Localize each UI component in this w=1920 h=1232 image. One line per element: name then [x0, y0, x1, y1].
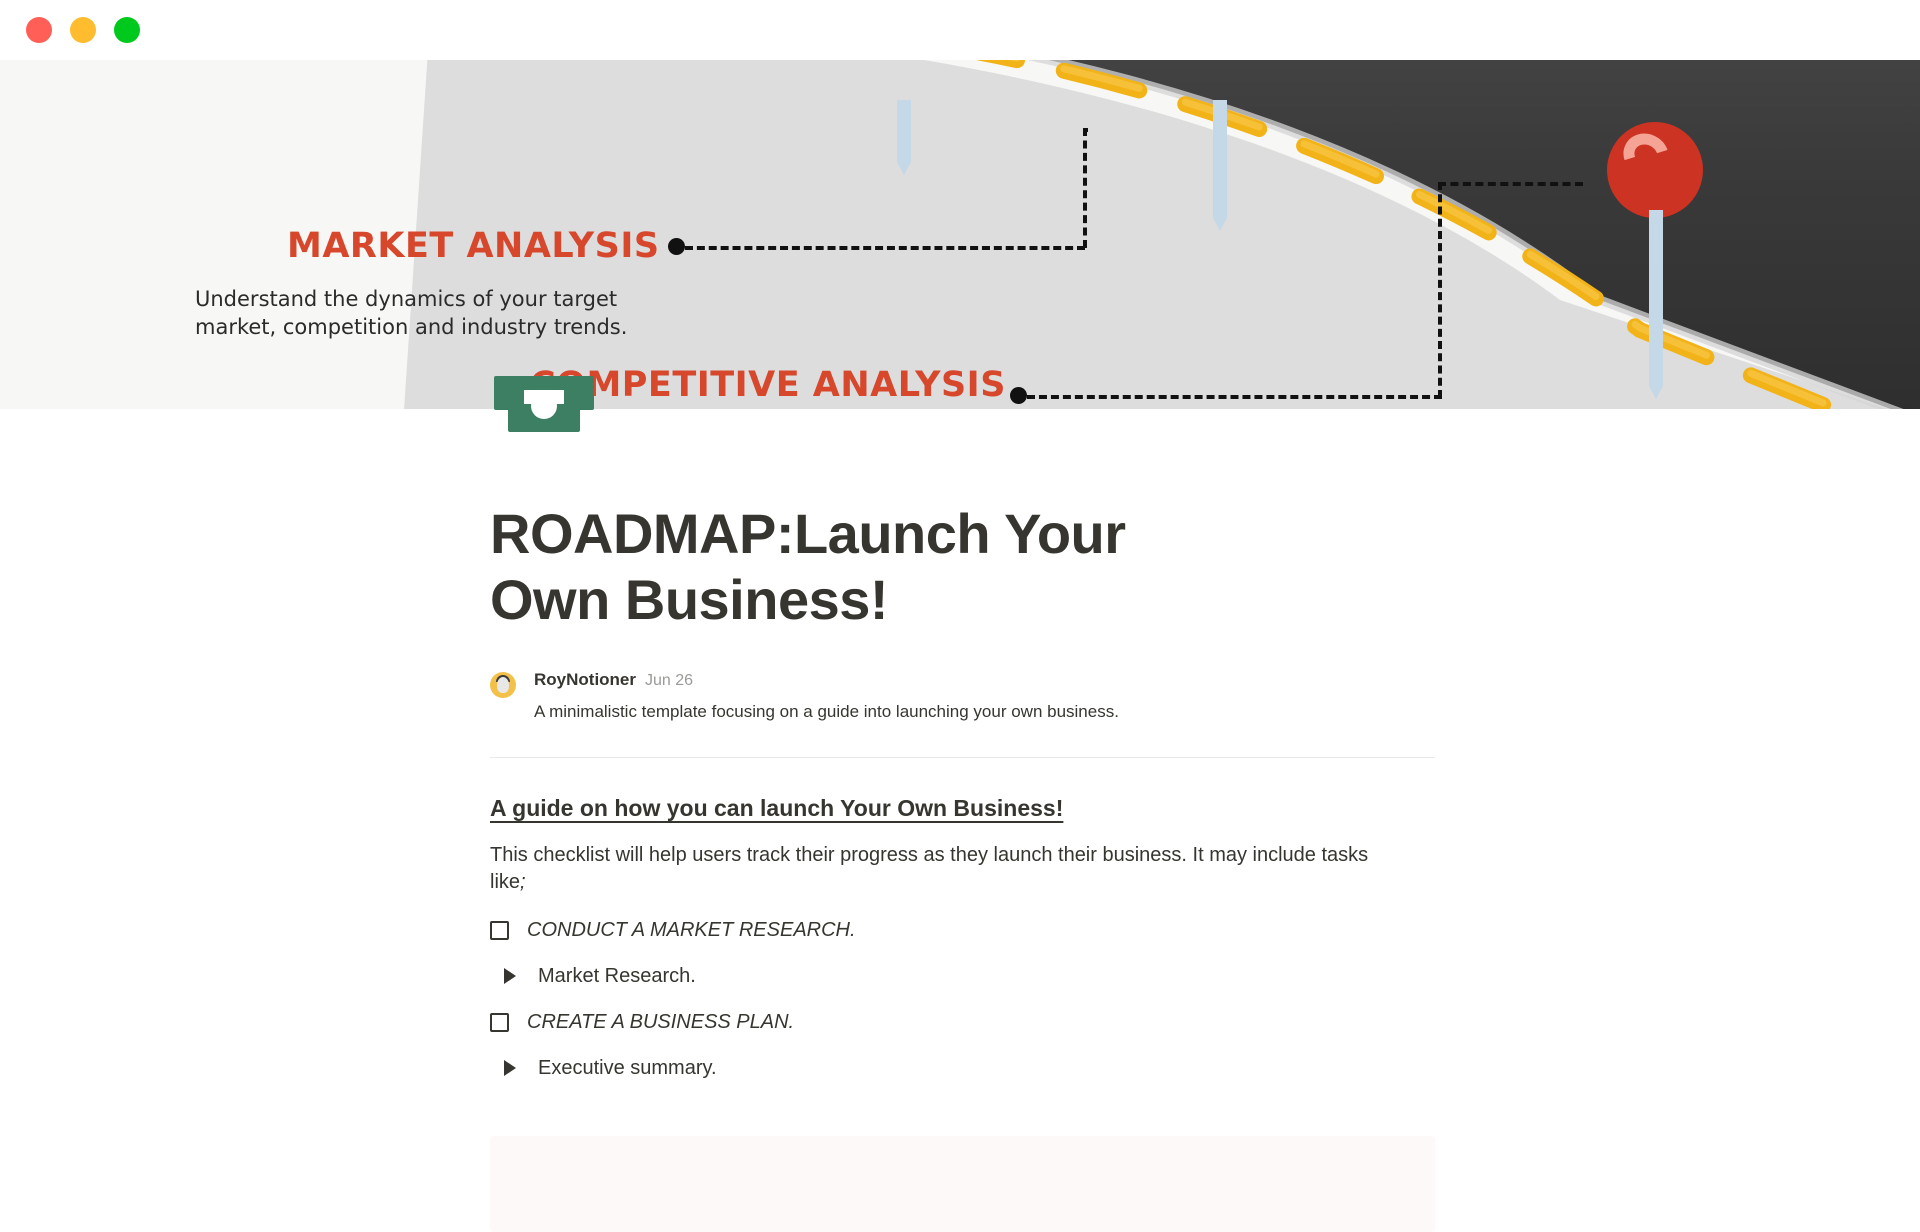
- connector-line-market: [685, 246, 1085, 250]
- connector-dot-competitive: [1010, 387, 1027, 404]
- connector-vertical-market: [1083, 128, 1087, 248]
- document-body: ROADMAP:Launch Your Own Business! RoyNot…: [490, 409, 1435, 1232]
- toggle-item-label: Market Research.: [538, 965, 696, 988]
- checklist-item-label: CONDUCT A MARKET RESEARCH.: [527, 919, 856, 942]
- intro-paragraph: This checklist will help users track the…: [490, 842, 1395, 896]
- checklist-item-label: CREATE A BUSINESS PLAN.: [527, 1011, 794, 1034]
- toggle-item-label: Executive summary.: [538, 1057, 717, 1080]
- checklist-item[interactable]: CREATE A BUSINESS PLAN.: [490, 1011, 1435, 1034]
- toggle-item[interactable]: Executive summary.: [504, 1057, 1435, 1080]
- pin-highlight: [1616, 126, 1676, 185]
- intro-paragraph-terminator: ;: [520, 871, 526, 893]
- publish-date: Jun 26: [645, 672, 693, 690]
- checkbox-icon[interactable]: [490, 921, 509, 940]
- connector-line-competitive: [1027, 395, 1442, 399]
- maximize-window-button[interactable]: [114, 17, 140, 43]
- hero-description-market-analysis: Understand the dynamics of your target m…: [195, 285, 627, 341]
- author-name[interactable]: RoyNotioner: [534, 670, 636, 690]
- toggle-item[interactable]: Market Research.: [504, 965, 1435, 988]
- divider: [490, 757, 1435, 758]
- hero-cover-image[interactable]: MARKET ANALYSIS Understand the dynamics …: [0, 60, 1920, 409]
- map-pin-head: [1607, 122, 1703, 218]
- avatar-face: [497, 677, 509, 693]
- byline: RoyNotioner Jun 26 A minimalistic templa…: [490, 670, 1435, 724]
- page-title: ROADMAP:Launch Your Own Business!: [490, 501, 1210, 632]
- intro-paragraph-text: This checklist will help users track the…: [490, 844, 1368, 893]
- section-heading: A guide on how you can launch Your Own B…: [490, 795, 1063, 822]
- connector-line-competitive-top: [1438, 182, 1583, 186]
- pin-needle-2: [1213, 100, 1227, 218]
- close-window-button[interactable]: [26, 17, 52, 43]
- window-titlebar: [0, 0, 1920, 60]
- checklist-item[interactable]: CONDUCT A MARKET RESEARCH.: [490, 919, 1435, 942]
- money-banknote-icon: [494, 376, 594, 436]
- connector-dot-market: [668, 238, 685, 255]
- chevron-right-icon[interactable]: [504, 1060, 516, 1076]
- page-description: A minimalistic template focusing on a gu…: [534, 700, 1119, 724]
- hero-heading-market-analysis: MARKET ANALYSIS: [287, 226, 660, 266]
- pin-needle-1: [897, 100, 911, 162]
- callout-block[interactable]: [490, 1136, 1435, 1232]
- map-pin-needle: [1649, 210, 1663, 386]
- chevron-right-icon[interactable]: [504, 968, 516, 984]
- hero-heading-competitive-analysis: COMPETITIVE ANALYSIS: [530, 365, 1006, 405]
- connector-line-market-top: [1083, 128, 1088, 132]
- connector-vertical-competitive: [1438, 182, 1442, 398]
- avatar[interactable]: [490, 672, 516, 698]
- traffic-light-buttons: [26, 17, 140, 43]
- minimize-window-button[interactable]: [70, 17, 96, 43]
- checkbox-icon[interactable]: [490, 1013, 509, 1032]
